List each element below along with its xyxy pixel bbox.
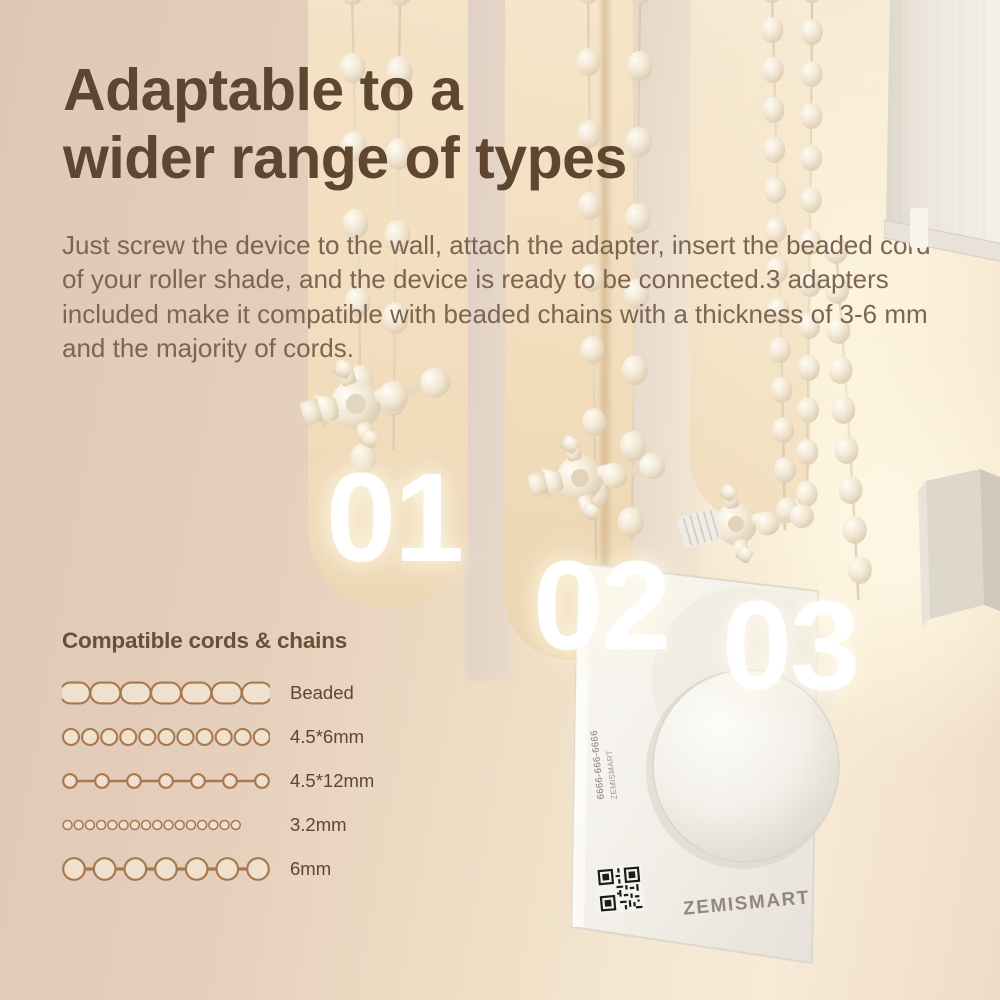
cord-type-label: 4.5*12mm	[290, 770, 374, 792]
cord-type-row: 6mm	[62, 849, 442, 888]
compatible-cords-list: Beaded4.5*6mm4.5*12mm3.2mm6mm	[62, 673, 442, 888]
product-feature-banner: Adaptable to a wider range of types Just…	[0, 0, 1000, 1000]
roller-shade	[884, 0, 1000, 294]
chain-micro-circle-icon	[62, 812, 270, 838]
qr-code-icon	[595, 864, 645, 914]
chain-large-circle-icon	[62, 856, 270, 882]
chain-oval-link-icon	[62, 680, 270, 706]
cord-type-label: 6mm	[290, 858, 331, 880]
page-title: Adaptable to a wider range of types	[63, 56, 783, 193]
step-number-02: 02	[533, 543, 669, 669]
headline-line-2: wider range of types	[63, 124, 783, 192]
compatible-cords-section: Compatible cords & chains Beaded4.5*6mm4…	[62, 628, 442, 893]
body-paragraph: Just screw the device to the wall, attac…	[62, 228, 942, 365]
chain-spaced-circle-icon	[62, 768, 270, 794]
chain-tight-circle-icon	[62, 724, 270, 750]
compatible-cords-title: Compatible cords & chains	[62, 628, 442, 654]
wall-sconce-light	[918, 455, 1000, 635]
shade-fabric	[886, 0, 1000, 252]
cord-type-row: Beaded	[62, 673, 442, 712]
cord-type-label: 3.2mm	[290, 814, 347, 836]
shade-pull-tab	[910, 208, 928, 248]
headline-line-1: Adaptable to a	[63, 57, 463, 123]
cord-type-row: 3.2mm	[62, 805, 442, 844]
adapter-part-two	[522, 430, 692, 535]
chain-micro-circle-icon	[62, 812, 270, 838]
chain-tight-circle-icon	[62, 724, 270, 750]
chain-spaced-circle-icon	[62, 768, 270, 794]
cord-type-label: Beaded	[290, 682, 354, 704]
cord-type-row: 4.5*12mm	[62, 761, 442, 800]
chain-oval-link-icon	[62, 680, 270, 706]
cord-type-label: 4.5*6mm	[290, 726, 364, 748]
adapter-part-one	[300, 352, 480, 462]
step-number-03: 03	[722, 583, 858, 709]
cord-type-row: 4.5*6mm	[62, 717, 442, 756]
chain-large-circle-icon	[62, 856, 270, 882]
step-number-01: 01	[326, 455, 462, 581]
coupler-icon	[678, 507, 724, 549]
